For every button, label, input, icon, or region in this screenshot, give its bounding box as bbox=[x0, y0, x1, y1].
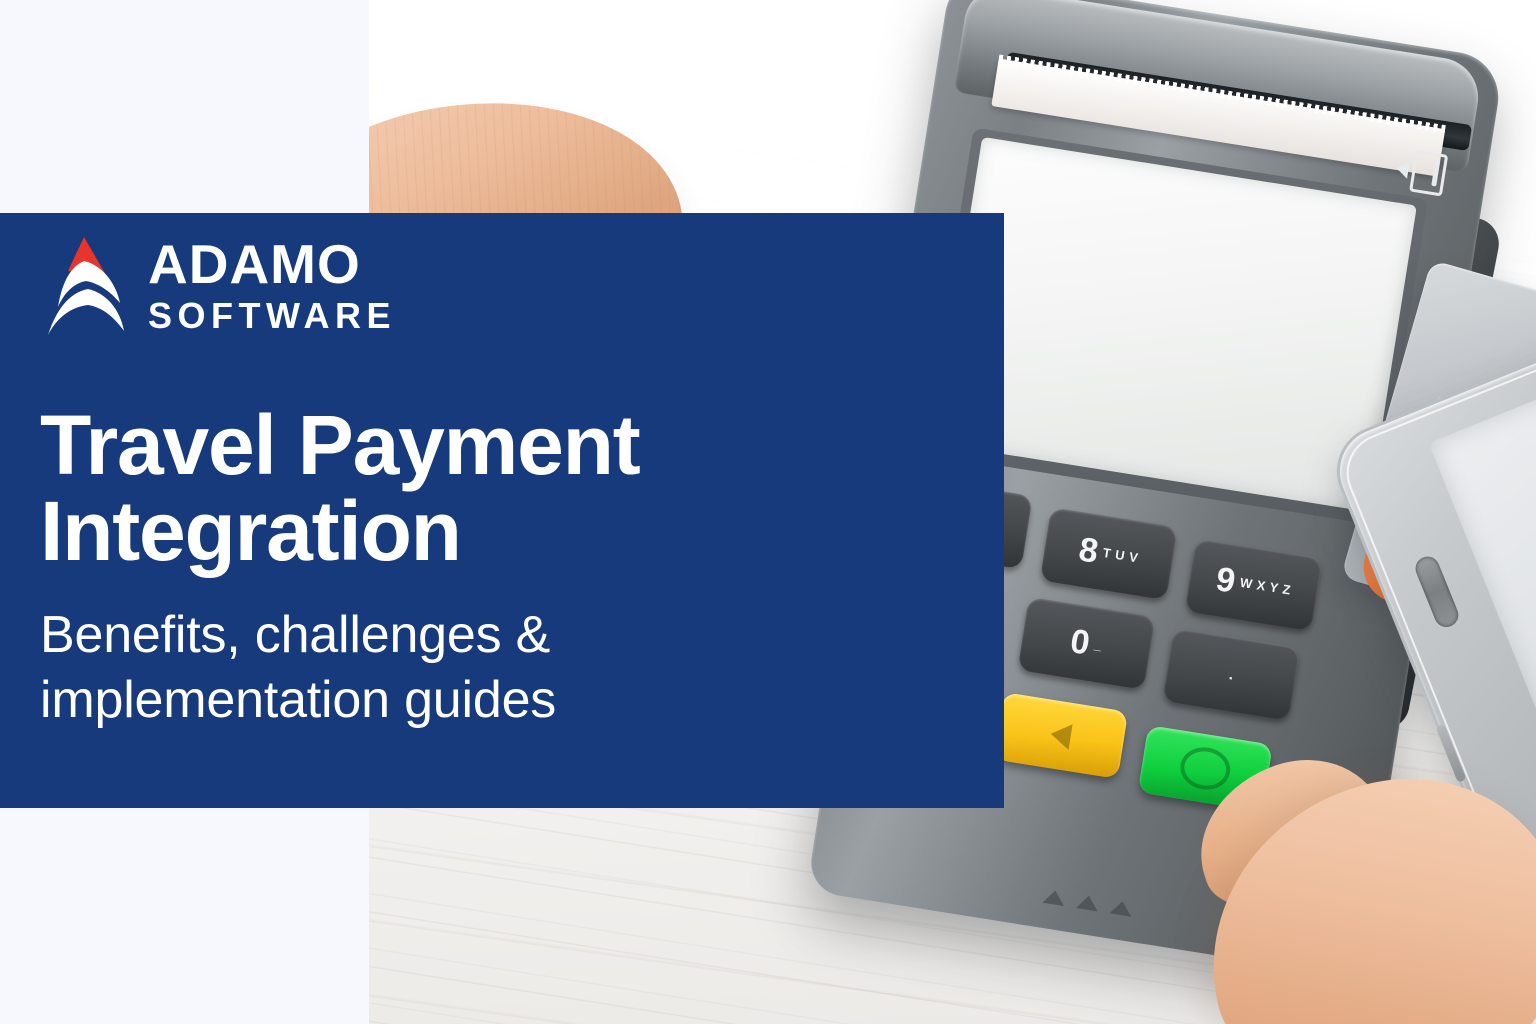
hero-blue-card: ADAMO SOFTWARE Travel Payment Integratio… bbox=[0, 213, 1004, 808]
brand-name-secondary: SOFTWARE bbox=[148, 298, 396, 334]
back-arrow-icon bbox=[1049, 721, 1073, 750]
brand-wordmark: ADAMO SOFTWARE bbox=[148, 237, 396, 334]
key-digit: . bbox=[1228, 667, 1234, 682]
key-digit: 8 bbox=[1077, 532, 1101, 569]
card-insert-icon bbox=[1393, 148, 1455, 196]
brand-name-primary: ADAMO bbox=[148, 237, 396, 292]
page-title: Travel Payment Integration bbox=[40, 403, 940, 574]
keypad-key-8: 8 T U V bbox=[1040, 507, 1178, 600]
keypad-key-0: 0 _ bbox=[1017, 597, 1155, 690]
adamo-swoosh-logo-icon bbox=[40, 231, 132, 339]
key-letters: W X Y Z bbox=[1239, 576, 1292, 598]
keypad-key-dot: . bbox=[1162, 628, 1300, 721]
keypad-correct-key bbox=[993, 692, 1128, 779]
key-digit: 0 bbox=[1068, 624, 1092, 661]
key-letters: T U V bbox=[1102, 546, 1139, 565]
page-subtitle: Benefits, challenges & implementation gu… bbox=[40, 603, 940, 733]
key-letters: _ bbox=[1093, 638, 1103, 653]
brand-logo[interactable]: ADAMO SOFTWARE bbox=[40, 231, 396, 339]
enter-circle-icon bbox=[1177, 744, 1233, 793]
key-digit: 9 bbox=[1214, 562, 1238, 599]
keypad-key-9: 9 W X Y Z bbox=[1185, 538, 1323, 631]
poster-canvas: 7 P R S 8 T U V 9 W X Y Z 0 _ bbox=[0, 0, 1536, 1024]
